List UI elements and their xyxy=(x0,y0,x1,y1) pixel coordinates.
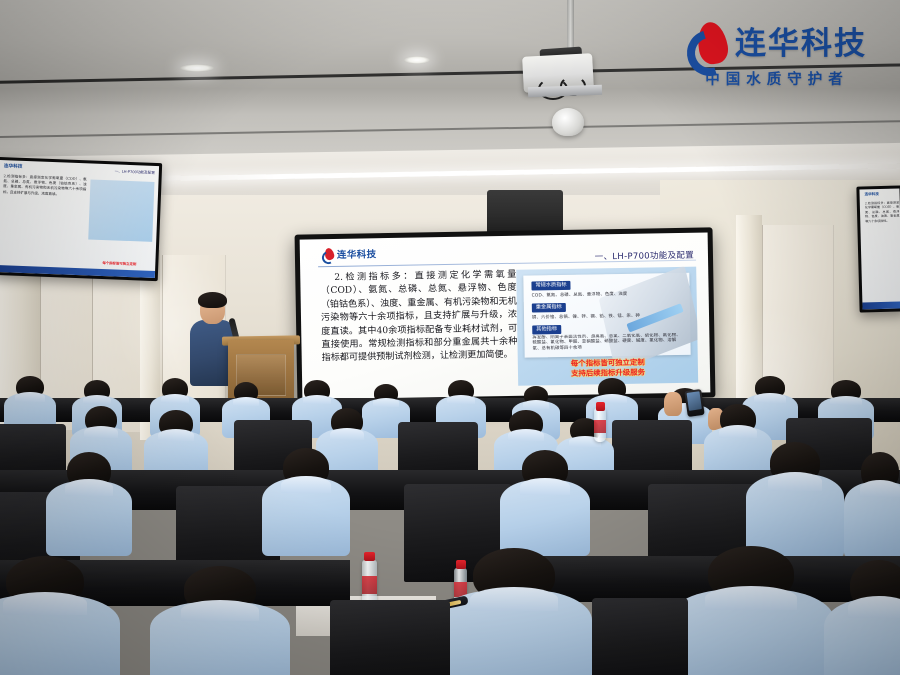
conference-room-photo: 连华科技 一、LH-P700功能及配置 2.检测指标多：直接测定化学需氧量（CO… xyxy=(0,0,900,675)
figure-sheet: 常规水质指标 COD、氨氮、总磷、总氮、悬浮物、色度、浊度 重金属指标 铜、六价… xyxy=(523,273,690,358)
attendee xyxy=(500,450,590,556)
slide-body-text: 2.检测指标多：直接测定化学需氧量（COD）、氨氮、总磷、总氮、悬浮物、色度（铂… xyxy=(320,269,518,366)
side-right-logo: 连华科技 xyxy=(865,192,880,197)
ceiling-spotlight xyxy=(404,56,430,64)
ceiling-spotlight xyxy=(180,64,214,72)
seat-back xyxy=(330,600,450,675)
slide-brand-text: 连华科技 xyxy=(337,246,377,261)
indicator-tag-1: 常规水质指标 xyxy=(531,281,570,291)
side-display-left-screen: 连华科技 一、LH-P700功能及配置 2.检测指标多：直接测定化学需氧量（CO… xyxy=(0,160,159,278)
watermark-brand: 连华科技 xyxy=(735,24,867,64)
indicator-tag-3: 其他指标 xyxy=(532,325,561,335)
brand-watermark: 连华科技 中国水质守护者 xyxy=(672,22,882,89)
attendee xyxy=(262,448,350,556)
side-left-logo: 连华科技 xyxy=(4,163,23,170)
attendee xyxy=(844,452,900,558)
slide-brand-logo: 连华科技 xyxy=(322,246,377,261)
side-left-section-title: 一、LH-P700功能及配置 xyxy=(115,169,155,176)
ceiling-dome-light xyxy=(552,108,584,136)
side-left-picture xyxy=(88,179,154,242)
side-left-caption: 每个指标皆可独立定制 xyxy=(87,261,151,268)
attendee xyxy=(46,452,132,556)
side-right-footer-bar xyxy=(862,301,900,309)
attendee-foreground xyxy=(0,556,120,675)
attendee-foreground xyxy=(668,546,834,675)
water-bottle xyxy=(594,408,606,442)
side-left-body-text: 2.检测指标多：直接测定化学需氧量（COD）、氨氮、总磷、总氮、悬浮物、色度（铂… xyxy=(3,174,87,198)
side-display-right[interactable]: 连华科技 2.检测指标多：直接测定化学需氧量（COD）、氨氮、总磷、总氮、悬浮物… xyxy=(856,185,900,312)
indicator-items-3: 挥发酚、阴离子表面活性剂、游离氯、总氯、二氧化氯、硫化物、氟化物、硫酸盐、氰化物… xyxy=(532,333,682,354)
side-display-left[interactable]: 连华科技 一、LH-P700功能及配置 2.检测指标多：直接测定化学需氧量（CO… xyxy=(0,157,162,281)
attendee xyxy=(746,442,844,558)
indicator-tag-2: 重金属指标 xyxy=(532,303,566,313)
main-slide: 连华科技 一、LH-P700功能及配置 2.检测指标多：直接测定化学需氧量（CO… xyxy=(300,232,711,399)
presenter-hair xyxy=(198,292,227,308)
raised-hand xyxy=(664,392,682,416)
attendee-foreground xyxy=(436,548,592,675)
water-drop-icon xyxy=(322,247,334,260)
side-right-body-text: 2.检测指标多：直接测定化学需氧量（COD）、氨氮、总磷、总氮、悬浮物、色度、浊… xyxy=(865,201,900,224)
figure-caption: 每个指标皆可独立定制 支持后续指标升级服务 xyxy=(518,357,698,380)
slide-product-figure: 常规水质指标 COD、氨氮、总磷、总氮、悬浮物、色度、浊度 重金属指标 铜、六价… xyxy=(516,267,698,386)
water-drop-logo-icon xyxy=(687,22,727,66)
smartphone-icon xyxy=(684,389,704,417)
side-display-right-screen: 连华科技 2.检测指标多：直接测定化学需氧量（COD）、氨氮、总磷、总氮、悬浮物… xyxy=(859,188,900,309)
attendee-foreground xyxy=(150,566,290,675)
main-presentation-display[interactable]: 连华科技 一、LH-P700功能及配置 2.检测指标多：直接测定化学需氧量（CO… xyxy=(295,227,716,404)
attendee-foreground xyxy=(824,560,900,675)
seat-back xyxy=(592,598,688,675)
